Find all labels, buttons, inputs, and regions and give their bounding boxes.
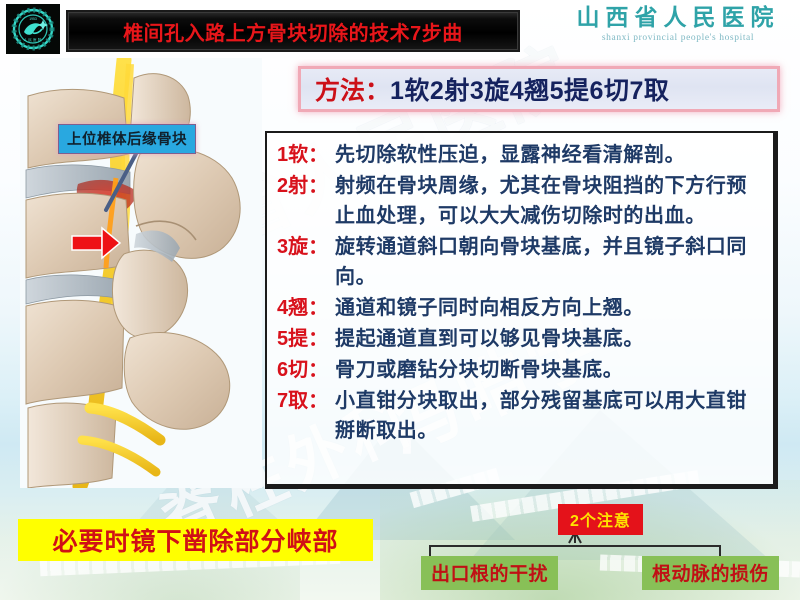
lumbar-spine-sagittal-illustration <box>20 58 262 488</box>
method-banner: 方法： 1软2射3旋4翘5提6切7取 <box>298 66 780 112</box>
step-text: 小直钳分块取出，部分残留基底可以用大直钳掰断取出。 <box>335 386 767 446</box>
dove-emblem-icon: 1953 人民医院 <box>10 7 56 51</box>
step-text: 提起通道直到可以够见骨块基底。 <box>335 324 767 354</box>
step-text: 骨刀或磨钻分块切断骨块基底。 <box>335 355 767 385</box>
step-row: 2射： 射频在骨块周缘，尤其在骨块阻挡的下方行预止血处理，可以大大减伤切除时的出… <box>277 171 767 231</box>
step-row: 6切： 骨刀或磨钻分块切断骨块基底。 <box>277 355 767 385</box>
step-text: 旋转通道斜口朝向骨块基底，并且镜子斜口同向。 <box>335 232 767 292</box>
slide-canvas: 山西省人民医院 冯皓宇 脊柱外科 1953 人民医院 椎间孔入路上方骨块切除的技… <box>0 0 800 600</box>
step-row: 7取： 小直钳分块取出，部分残留基底可以用大直钳掰断取出。 <box>277 386 767 446</box>
attention-heading: 2个注意 <box>558 504 643 535</box>
note-text: 必要时镜下凿除部分峡部 <box>52 522 338 558</box>
steps-panel: 1软： 先切除软性压迫，显露神经看清解剖。 2射： 射频在骨块周缘，尤其在骨块阻… <box>265 131 778 489</box>
step-row: 5提： 提起通道直到可以够见骨块基底。 <box>277 324 767 354</box>
hospital-name-en: shanxi provincial people's hospital <box>564 34 792 44</box>
attention-item-right: 根动脉的损伤 <box>642 556 779 590</box>
attention-bracket-connector <box>425 532 765 558</box>
step-key: 7取： <box>277 386 335 416</box>
page-title: 椎间孔入路上方骨块切除的技术7步曲 <box>123 17 463 46</box>
step-row: 4翘： 通道和镜子同时向相反方向上翘。 <box>277 293 767 323</box>
step-key: 1软： <box>277 140 335 170</box>
step-text: 射频在骨块周缘，尤其在骨块阻挡的下方行预止血处理，可以大大减伤切除时的出血。 <box>335 171 767 231</box>
hospital-name-block: 山西省人民医院 shanxi provincial people's hospi… <box>564 6 792 44</box>
hospital-logo: 1953 人民医院 <box>6 4 60 54</box>
step-text: 先切除软性压迫，显露神经看清解剖。 <box>335 140 767 170</box>
step-key: 6切： <box>277 355 335 385</box>
step-key: 2射： <box>277 171 335 201</box>
svg-text:人民医院: 人民医院 <box>23 37 42 42</box>
step-text: 通道和镜子同时向相反方向上翘。 <box>335 293 767 323</box>
svg-text:1953: 1953 <box>29 17 37 21</box>
step-key: 5提： <box>277 324 335 354</box>
step-key: 4翘： <box>277 293 335 323</box>
anatomy-caption-label: 上位椎体后缘骨块 <box>58 124 196 154</box>
note-banner: 必要时镜下凿除部分峡部 <box>18 519 373 561</box>
hospital-name-cn: 山西省人民医院 <box>564 6 792 29</box>
step-row: 3旋： 旋转通道斜口朝向骨块基底，并且镜子斜口同向。 <box>277 232 767 292</box>
anatomy-illustration <box>20 58 262 488</box>
method-value: 1软2射3旋4翘5提6切7取 <box>390 71 669 107</box>
step-key: 3旋： <box>277 232 335 262</box>
attention-item-left: 出口根的干扰 <box>421 556 558 590</box>
method-label: 方法： <box>315 71 390 107</box>
step-row: 1软： 先切除软性压迫，显露神经看清解剖。 <box>277 140 767 170</box>
slide-title-bar: 椎间孔入路上方骨块切除的技术7步曲 <box>66 10 520 52</box>
